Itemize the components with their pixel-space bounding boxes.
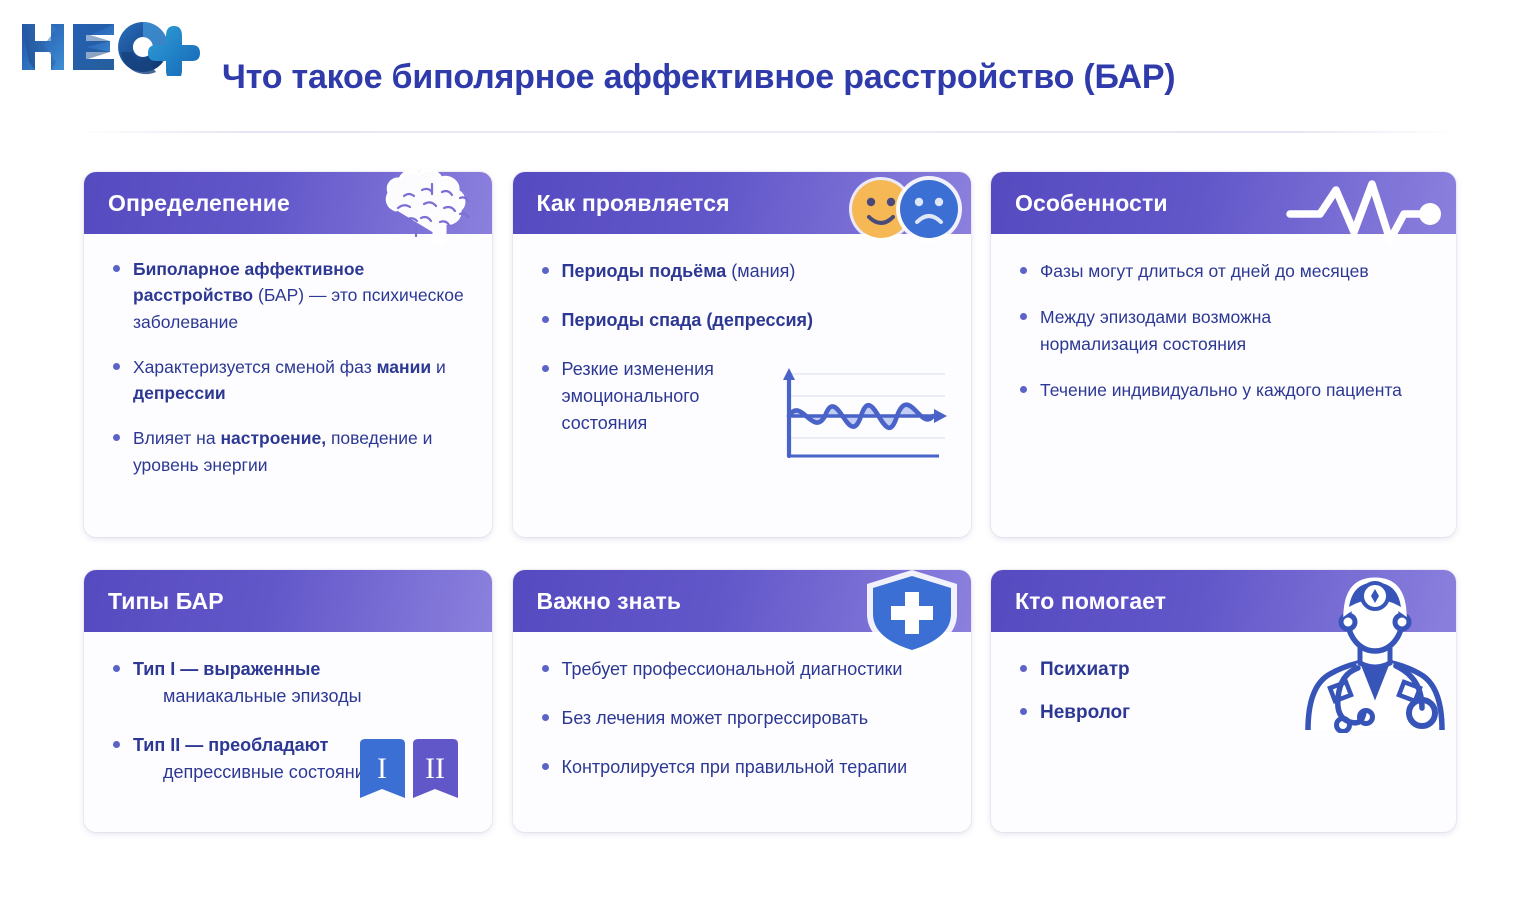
card-header: Важно знать (513, 570, 971, 632)
cards-grid: Определепение (84, 172, 1456, 832)
card-who: Кто помогает (991, 570, 1456, 832)
list-item: Биполарное аффективное расстройство (БАР… (108, 256, 470, 335)
card-title: Как проявляется (537, 190, 730, 217)
page-header: Что такое биполярное аффективное расстро… (0, 0, 1536, 135)
brand-logo (18, 18, 208, 76)
card-header: Как проявляется (513, 172, 971, 234)
card-bullets: Требует профессиональной диагностики Без… (513, 632, 971, 832)
list-item: Характеризуется сменой фаз мании и депре… (108, 354, 470, 407)
card-surface: Типы БАР I II Тип I — выраженныеманиакал… (84, 570, 492, 832)
list-item: Между эпизодами возможна нормализация со… (1015, 304, 1315, 357)
list-item: Тип I — выраженныеманиакальные эпизоды (108, 656, 470, 710)
card-header: Особенности (991, 172, 1456, 234)
card-important: Важно знать Требует профессиональной диа… (513, 570, 971, 832)
title-divider (78, 131, 1458, 133)
card-definition: Определепение (84, 172, 492, 537)
card-header: Кто помогает (991, 570, 1456, 632)
card-surface: Особенности Фазы могут длиться от дней д… (991, 172, 1456, 537)
neo-plus-logo-icon (18, 18, 208, 76)
page-title: Что такое биполярное аффективное расстро… (222, 58, 1175, 97)
list-item: Резкие изменения эмоционального состояни… (537, 356, 787, 437)
card-bullets: Психиатр Невролог (991, 632, 1456, 832)
card-header: Типы БАР (84, 570, 492, 632)
card-bullets: Тип I — выраженныеманиакальные эпизоды Т… (84, 632, 492, 832)
list-item: Тип II — преобладаютдепрессивные состоян… (108, 732, 470, 786)
card-types: Типы БАР I II Тип I — выраженныеманиакал… (84, 570, 492, 832)
list-item: Фазы могут длиться от дней до месяцев (1015, 258, 1434, 284)
card-symptoms: Как проявляется (513, 172, 971, 537)
list-item: Периоды подьёма (мания) (537, 258, 949, 285)
list-item: Невролог (1015, 699, 1434, 728)
card-title: Кто помогает (1015, 588, 1166, 615)
card-surface: Как проявляется (513, 172, 971, 537)
list-item: Течение индивидуально у каждого пациента (1015, 377, 1434, 403)
card-surface: Важно знать Требует профессиональной диа… (513, 570, 971, 832)
list-item: Влияет на настроение, поведение и уровен… (108, 425, 470, 478)
list-item: Периоды спада (депрессия) (537, 307, 949, 334)
card-features: Особенности Фазы могут длиться от дней д… (991, 172, 1456, 537)
list-item: Контролируется при правильной терапии (537, 754, 949, 781)
card-surface: Определепение (84, 172, 492, 537)
card-title: Определепение (108, 190, 290, 217)
card-bullets: Биполарное аффективное расстройство (БАР… (84, 234, 492, 537)
card-header: Определепение (84, 172, 492, 234)
card-surface: Кто помогает (991, 570, 1456, 832)
card-title: Важно знать (537, 588, 682, 615)
card-title: Типы БАР (108, 588, 224, 615)
card-bullets: Периоды подьёма (мания) Периоды спада (д… (513, 234, 971, 537)
list-item: Требует профессиональной диагностики (537, 656, 949, 683)
card-title: Особенности (1015, 190, 1168, 217)
card-bullets: Фазы могут длиться от дней до месяцев Ме… (991, 234, 1456, 537)
list-item: Без лечения может прогрессировать (537, 705, 949, 732)
list-item: Психиатр (1015, 656, 1434, 685)
